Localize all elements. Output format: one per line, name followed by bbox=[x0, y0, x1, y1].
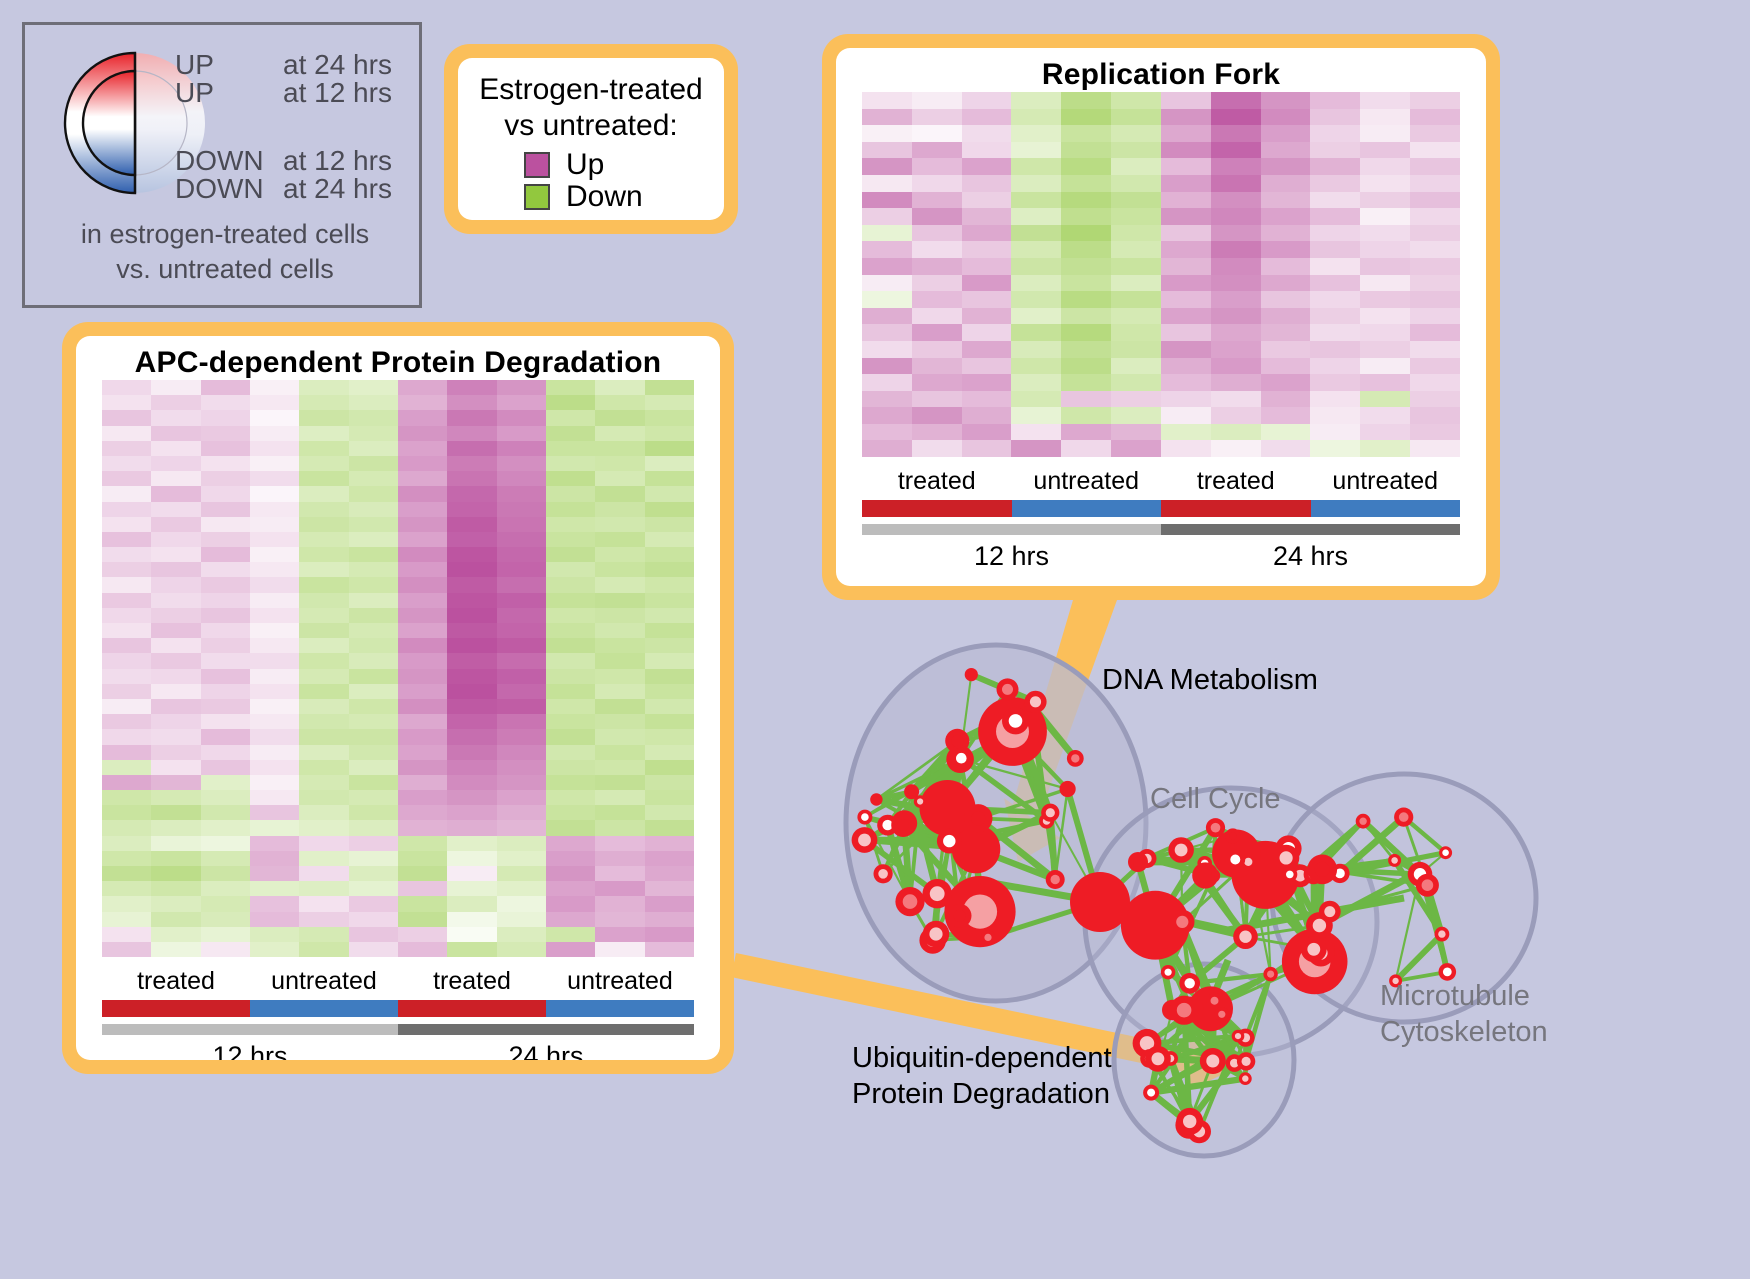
key-title-line-1: Estrogen-treated bbox=[468, 72, 714, 108]
network-node-core bbox=[1175, 844, 1188, 857]
network-edge bbox=[1234, 1061, 1246, 1063]
heatmap-cell bbox=[447, 653, 496, 668]
heatmap-cell bbox=[398, 410, 447, 425]
network-edge bbox=[978, 789, 1067, 818]
heatmap-cell bbox=[1161, 324, 1211, 341]
heatmap-cell bbox=[299, 380, 348, 395]
heatmap-cell bbox=[447, 562, 496, 577]
network-node-core bbox=[1201, 860, 1208, 867]
heatmap-cell bbox=[447, 745, 496, 760]
network-node-core bbox=[882, 820, 892, 830]
network-edge bbox=[1315, 953, 1321, 962]
network-edge bbox=[1184, 1010, 1234, 1063]
network-node bbox=[1225, 850, 1245, 870]
heatmap-cell bbox=[645, 790, 694, 805]
network-edge bbox=[1172, 1010, 1246, 1061]
network-edge bbox=[1151, 1038, 1245, 1093]
heatmap-cell bbox=[398, 760, 447, 775]
network-edge bbox=[1181, 850, 1245, 937]
network-edge bbox=[1151, 1010, 1172, 1093]
heatmap-cell bbox=[299, 805, 348, 820]
heatmap-cell bbox=[645, 395, 694, 410]
heatmap-cell bbox=[398, 805, 447, 820]
network-edge bbox=[1266, 875, 1320, 926]
heatmap-cell bbox=[201, 471, 250, 486]
network-edge bbox=[1182, 862, 1248, 922]
heatmap-cell bbox=[250, 881, 299, 896]
network-edge bbox=[1248, 862, 1340, 874]
network-edge bbox=[1396, 934, 1442, 981]
heatmap-cell bbox=[349, 820, 398, 835]
network-edge bbox=[865, 817, 883, 874]
network-edge bbox=[1286, 858, 1313, 875]
network-node-core bbox=[926, 934, 939, 947]
heatmap-cell bbox=[1011, 424, 1061, 441]
network-node bbox=[891, 810, 917, 836]
heatmap-cell bbox=[151, 471, 200, 486]
heatmap-cell bbox=[546, 714, 595, 729]
heatmap-cell bbox=[546, 790, 595, 805]
heatmap-cell bbox=[546, 456, 595, 471]
network-edge bbox=[1168, 972, 1214, 1001]
heatmap-cell bbox=[1161, 241, 1211, 258]
heatmap-cell bbox=[1410, 391, 1460, 408]
network-edge bbox=[1213, 1001, 1215, 1061]
network-node-core bbox=[1183, 1115, 1196, 1128]
heatmap-cell bbox=[102, 608, 151, 623]
network-edge bbox=[904, 823, 949, 841]
heatmap-cell bbox=[497, 820, 546, 835]
network-node-core bbox=[1307, 943, 1320, 956]
heatmap-cell bbox=[595, 699, 644, 714]
heatmap-cell bbox=[546, 866, 595, 881]
heatmap-cell bbox=[1410, 109, 1460, 126]
network-node-core bbox=[858, 834, 871, 847]
key-item-up: Up bbox=[524, 150, 714, 180]
network-node bbox=[1060, 781, 1076, 797]
network-node bbox=[1179, 973, 1200, 994]
heatmap-cell bbox=[299, 547, 348, 562]
network-edge bbox=[1420, 874, 1442, 934]
heatmap-cell bbox=[349, 380, 398, 395]
network-edge bbox=[1150, 1001, 1215, 1059]
heatmap-cell bbox=[398, 836, 447, 851]
heatmap-cell bbox=[912, 175, 962, 192]
heatmap-cell bbox=[102, 562, 151, 577]
heatmap-cell bbox=[1011, 374, 1061, 391]
heatmap-cell bbox=[102, 653, 151, 668]
network-node-core bbox=[1315, 862, 1330, 877]
heatmap-cell bbox=[645, 410, 694, 425]
heatmap-cell bbox=[447, 426, 496, 441]
heatmap-cell bbox=[447, 760, 496, 775]
heatmap-cell bbox=[497, 760, 546, 775]
heatmap-cell bbox=[1261, 407, 1311, 424]
heatmap-cell bbox=[102, 380, 151, 395]
heatmap-cell bbox=[398, 547, 447, 562]
heatmap-cell bbox=[447, 851, 496, 866]
heatmap-cell bbox=[1360, 391, 1410, 408]
heatmap-cell bbox=[1011, 324, 1061, 341]
network-edge bbox=[1246, 937, 1314, 950]
heatmap-cell bbox=[299, 714, 348, 729]
replication-fork-panel: Replication Fork treated untreated treat… bbox=[822, 34, 1500, 600]
heatmap-cell bbox=[645, 805, 694, 820]
group-labels: treated untreated treated untreated bbox=[862, 467, 1460, 496]
network-edge bbox=[1235, 860, 1319, 926]
heatmap-cell bbox=[546, 820, 595, 835]
network-edge bbox=[1171, 1059, 1235, 1064]
network-edge bbox=[1138, 828, 1216, 862]
network-edge bbox=[1181, 850, 1236, 854]
arrowhead-dna bbox=[1004, 798, 1060, 862]
network-node bbox=[1306, 912, 1333, 939]
network-node-core bbox=[951, 735, 963, 747]
heatmap-cell bbox=[151, 714, 200, 729]
network-edge bbox=[1289, 849, 1314, 950]
heatmap-cell bbox=[447, 699, 496, 714]
heatmap-cell bbox=[546, 577, 595, 592]
heatmap-cell bbox=[1211, 440, 1261, 457]
heatmap-cell bbox=[349, 532, 398, 547]
heatmap-cell bbox=[250, 547, 299, 562]
network-node bbox=[1215, 1007, 1230, 1022]
heatmap-cell bbox=[546, 486, 595, 501]
heatmap-cell bbox=[1211, 291, 1261, 308]
heatmap-cell bbox=[299, 745, 348, 760]
heatmap-cell bbox=[201, 790, 250, 805]
network-edge bbox=[1235, 860, 1290, 875]
heatmap-cell bbox=[546, 805, 595, 820]
network-edge bbox=[1213, 858, 1286, 876]
network-edge bbox=[1155, 925, 1172, 1010]
heatmap-cell bbox=[546, 881, 595, 896]
group-label: untreated bbox=[1311, 467, 1461, 496]
network-edge bbox=[1340, 817, 1404, 873]
heatmap-cell bbox=[962, 192, 1012, 209]
legend-row: UP at 24 hrs bbox=[175, 51, 425, 79]
heatmap-cell bbox=[398, 866, 447, 881]
heatmap-cell bbox=[349, 593, 398, 608]
heatmap-cell bbox=[447, 790, 496, 805]
heatmap-cell bbox=[1161, 440, 1211, 457]
network-node bbox=[895, 887, 924, 916]
heatmap-cell bbox=[595, 881, 644, 896]
network-edge bbox=[1155, 854, 1236, 926]
heatmap-cell bbox=[1310, 424, 1360, 441]
network-node bbox=[1024, 691, 1046, 713]
network-edge bbox=[1172, 1010, 1245, 1038]
network-edge bbox=[1404, 817, 1428, 885]
heatmap-cell bbox=[102, 699, 151, 714]
network-node-core bbox=[1147, 1089, 1155, 1097]
heatmap-cell bbox=[962, 391, 1012, 408]
network-node-core bbox=[984, 934, 991, 941]
network-edge bbox=[910, 902, 933, 941]
heatmap-cell bbox=[1310, 92, 1360, 109]
heatmap-cell bbox=[645, 684, 694, 699]
heatmap-cell bbox=[595, 593, 644, 608]
network-node bbox=[1133, 1029, 1162, 1058]
heatmap-cell bbox=[201, 638, 250, 653]
key-label-down: Down bbox=[566, 182, 643, 212]
heatmap-cell bbox=[151, 623, 200, 638]
network-edge bbox=[961, 758, 1046, 821]
heatmap-cell bbox=[862, 440, 912, 457]
heatmap-cell bbox=[299, 912, 348, 927]
network-node bbox=[1161, 965, 1175, 979]
heatmap-cell bbox=[151, 684, 200, 699]
network-edge bbox=[1181, 850, 1182, 922]
heatmap-cell bbox=[912, 424, 962, 441]
heatmap-cell bbox=[497, 456, 546, 471]
heatmap-cell bbox=[912, 407, 962, 424]
heatmap-cell bbox=[1161, 391, 1211, 408]
heatmap-cell bbox=[201, 653, 250, 668]
network-edge bbox=[933, 937, 988, 940]
heatmap-cell bbox=[497, 426, 546, 441]
network-edge bbox=[1032, 705, 1047, 821]
heatmap-cell bbox=[1261, 358, 1311, 375]
network-node-core bbox=[917, 798, 923, 804]
heatmap-cell bbox=[1061, 407, 1111, 424]
heatmap-cell bbox=[349, 684, 398, 699]
heatmap-cell bbox=[1161, 424, 1211, 441]
network-edge bbox=[876, 758, 961, 799]
network-node bbox=[1143, 1085, 1159, 1101]
heatmap-cell bbox=[151, 896, 200, 911]
heatmap-cell bbox=[546, 395, 595, 410]
heatmap-cell bbox=[1410, 407, 1460, 424]
network-node-core bbox=[1185, 978, 1195, 988]
heatmap-cell bbox=[299, 502, 348, 517]
network-edge bbox=[1266, 875, 1315, 962]
heatmap-cell bbox=[546, 623, 595, 638]
heatmap-cell bbox=[497, 927, 546, 942]
heatmap-cell bbox=[1211, 308, 1261, 325]
heatmap-cell bbox=[1061, 92, 1111, 109]
key-label-up: Up bbox=[566, 150, 604, 180]
network-node bbox=[1226, 1054, 1244, 1072]
network-edge bbox=[1147, 1036, 1238, 1043]
heatmap-cell bbox=[349, 942, 398, 957]
heatmap-cell bbox=[1360, 92, 1410, 109]
network-node bbox=[1187, 1120, 1211, 1144]
heatmap-cell bbox=[1261, 341, 1311, 358]
heatmap-cell bbox=[595, 775, 644, 790]
network-edge bbox=[1211, 1001, 1215, 1009]
heatmap-cell bbox=[1211, 208, 1261, 225]
heatmap-cell bbox=[1360, 324, 1410, 341]
network-node bbox=[1416, 874, 1439, 897]
heatmap-cell bbox=[497, 562, 546, 577]
network-edge bbox=[920, 802, 947, 809]
network-edge bbox=[888, 825, 976, 849]
heatmap-cell bbox=[1261, 291, 1311, 308]
network-edge bbox=[1322, 869, 1420, 874]
legend-key: DOWN bbox=[175, 147, 283, 175]
replication-fork-axis: treated untreated treated untreated 12 h bbox=[862, 467, 1460, 572]
heatmap-cell bbox=[546, 775, 595, 790]
heatmap-cell bbox=[201, 820, 250, 835]
heatmap-cell bbox=[201, 851, 250, 866]
network-edge bbox=[903, 823, 904, 825]
heatmap-cell bbox=[546, 653, 595, 668]
heatmap-cell bbox=[1061, 192, 1111, 209]
heatmap-cell bbox=[595, 426, 644, 441]
network-node bbox=[1197, 856, 1212, 871]
heatmap-cell bbox=[151, 669, 200, 684]
heatmap-cell bbox=[299, 881, 348, 896]
network-edge bbox=[1314, 874, 1320, 925]
network-node bbox=[891, 813, 915, 837]
network-node-core bbox=[1307, 943, 1315, 951]
heatmap-cell bbox=[1061, 275, 1111, 292]
heatmap-cell bbox=[595, 760, 644, 775]
heatmap-cell bbox=[1111, 142, 1161, 159]
heatmap-cell bbox=[250, 395, 299, 410]
heatmap-cell bbox=[497, 836, 546, 851]
heatmap-cell bbox=[1211, 175, 1261, 192]
network-node-core bbox=[1242, 1075, 1248, 1081]
heatmap-cell bbox=[1161, 225, 1211, 242]
heatmap-cell bbox=[151, 942, 200, 957]
network-edge bbox=[1050, 813, 1100, 902]
network-edge bbox=[912, 792, 950, 841]
heatmap-cell bbox=[250, 608, 299, 623]
heatmap-cell bbox=[1061, 374, 1111, 391]
network-node-core bbox=[1140, 1036, 1154, 1050]
bar-12hrs bbox=[102, 1024, 398, 1035]
heatmap-cell bbox=[1161, 175, 1211, 192]
network-node bbox=[1275, 835, 1301, 861]
bar-untreated bbox=[1012, 500, 1162, 517]
heatmap-cell bbox=[912, 125, 962, 142]
network-edge bbox=[937, 841, 949, 894]
heatmap-cell bbox=[250, 623, 299, 638]
heatmap-cell bbox=[447, 395, 496, 410]
heatmap-cell bbox=[349, 517, 398, 532]
network-edge bbox=[1171, 1001, 1215, 1059]
network-edge bbox=[1266, 874, 1314, 875]
network-node bbox=[1168, 837, 1194, 863]
network-node bbox=[1046, 870, 1065, 889]
network-node-core bbox=[930, 886, 945, 901]
network-edge bbox=[1190, 1061, 1213, 1121]
heatmap-cell bbox=[497, 547, 546, 562]
heatmap-cell bbox=[250, 638, 299, 653]
heatmap-cell bbox=[102, 593, 151, 608]
heatmap-cell bbox=[1111, 424, 1161, 441]
heatmap-cell bbox=[102, 927, 151, 942]
heatmap-cell bbox=[151, 729, 200, 744]
network-edge bbox=[1211, 1009, 1213, 1061]
network-edge bbox=[1246, 974, 1271, 1038]
network-node-core bbox=[878, 869, 888, 879]
network-node bbox=[874, 864, 893, 883]
network-edge bbox=[1248, 862, 1270, 974]
heatmap-cell bbox=[1011, 241, 1061, 258]
network-edge bbox=[865, 817, 903, 825]
heatmap-cell bbox=[447, 502, 496, 517]
network-edge bbox=[1216, 828, 1233, 836]
heatmap-cell bbox=[299, 760, 348, 775]
group-color-bar bbox=[862, 500, 1460, 517]
network-node-core bbox=[1002, 684, 1013, 695]
heatmap-cell bbox=[645, 912, 694, 927]
heatmap-cell bbox=[1410, 241, 1460, 258]
heatmap-cell bbox=[1410, 324, 1460, 341]
network-edge bbox=[1363, 821, 1395, 860]
heatmap-cell bbox=[595, 790, 644, 805]
network-node-core bbox=[898, 817, 911, 830]
heatmap-cell bbox=[595, 684, 644, 699]
heatmap-cell bbox=[1211, 258, 1261, 275]
network-edge bbox=[1182, 922, 1189, 983]
heatmap-cell bbox=[201, 608, 250, 623]
heatmap-cell bbox=[447, 805, 496, 820]
heatmap-cell bbox=[546, 426, 595, 441]
network-node bbox=[1178, 997, 1204, 1023]
network-edge bbox=[971, 675, 1007, 690]
network-edge bbox=[1151, 1093, 1190, 1122]
colorwheel-legend-rows: UP at 24 hrs UP at 12 hrs DOWN at 12 hrs… bbox=[175, 51, 425, 203]
network-edge bbox=[1315, 912, 1330, 962]
heatmap-cell bbox=[1161, 208, 1211, 225]
network-edge bbox=[865, 825, 888, 840]
key-title-line-2: vs untreated: bbox=[468, 108, 714, 144]
network-node bbox=[1321, 938, 1340, 957]
heatmap-cell bbox=[398, 532, 447, 547]
heatmap-cell bbox=[250, 380, 299, 395]
heatmap-cell bbox=[398, 502, 447, 517]
heatmap-cell bbox=[645, 714, 694, 729]
heatmap-cell bbox=[250, 699, 299, 714]
heatmap-cell bbox=[102, 426, 151, 441]
heatmap-cell bbox=[645, 638, 694, 653]
network-edge bbox=[1205, 863, 1266, 875]
heatmap-cell bbox=[1011, 142, 1061, 159]
heatmap-cell bbox=[497, 790, 546, 805]
network-edge bbox=[1138, 862, 1205, 863]
network-edge bbox=[1248, 862, 1314, 949]
heatmap-cell bbox=[250, 471, 299, 486]
heatmap-cell bbox=[1410, 192, 1460, 209]
heatmap-cell bbox=[1211, 391, 1261, 408]
heatmap-cell bbox=[201, 881, 250, 896]
heatmap-cell bbox=[102, 790, 151, 805]
network-edge bbox=[1340, 860, 1395, 873]
network-edge bbox=[1147, 1043, 1246, 1061]
heatmap-cell bbox=[201, 684, 250, 699]
heatmap-cell bbox=[1310, 308, 1360, 325]
heatmap-cell bbox=[447, 486, 496, 501]
heatmap-cell bbox=[299, 942, 348, 957]
network-edge bbox=[1181, 850, 1248, 862]
heatmap-cell bbox=[447, 927, 496, 942]
heatmap-cell bbox=[645, 441, 694, 456]
heatmap-cell bbox=[912, 374, 962, 391]
heatmap-cell bbox=[102, 577, 151, 592]
heatmap-cell bbox=[497, 942, 546, 957]
heatmap-cell bbox=[962, 275, 1012, 292]
network-edge bbox=[1155, 876, 1213, 926]
network-edge bbox=[1181, 849, 1288, 851]
heatmap-cell bbox=[299, 684, 348, 699]
heatmap-cell bbox=[497, 881, 546, 896]
heatmap-cell bbox=[1360, 424, 1410, 441]
heatmap-cell bbox=[595, 471, 644, 486]
